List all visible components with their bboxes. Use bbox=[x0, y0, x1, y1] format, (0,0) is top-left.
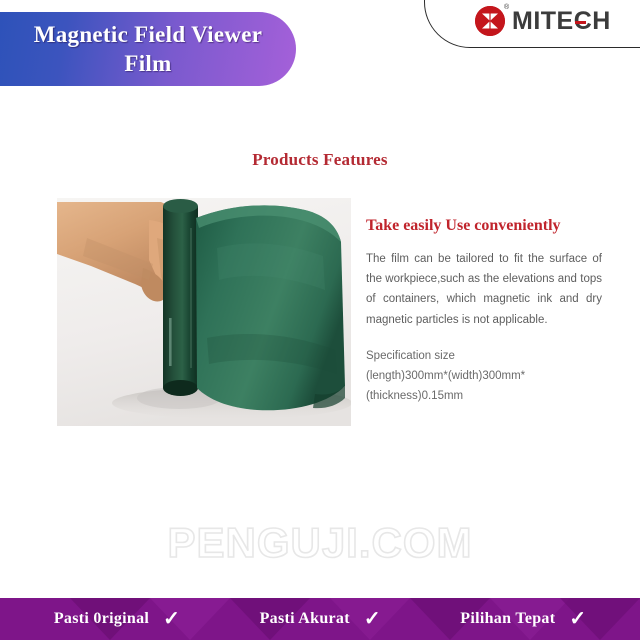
section-heading-products-features: Products Features bbox=[0, 150, 640, 170]
check-icon: ✓ bbox=[569, 609, 586, 629]
specification-dimensions: (length)300mm*(width)300mm* bbox=[366, 366, 602, 386]
mitech-hourglass-icon: ® bbox=[475, 6, 505, 36]
product-description-block: Take easily Use conveniently The film ca… bbox=[366, 216, 602, 406]
product-title-banner: Magnetic Field Viewer Film bbox=[0, 12, 296, 86]
footer-badge-right-choice: Pilihan Tepat ✓ bbox=[460, 609, 586, 629]
mitech-wordmark: MITECH bbox=[512, 9, 611, 34]
footer-badge-right-choice-label: Pilihan Tepat bbox=[460, 610, 555, 628]
footer-badge-accurate: Pasti Akurat ✓ bbox=[260, 609, 381, 629]
product-info-banner: ® MITECH Magnetic Field Viewer Film Prod… bbox=[0, 0, 640, 640]
specification-label: Specification size bbox=[366, 346, 602, 366]
product-title-line1: Magnetic Field Viewer bbox=[34, 20, 263, 49]
product-photo bbox=[57, 198, 351, 426]
product-title-line2: Film bbox=[124, 49, 171, 78]
footer-bar: Pasti 0riginal ✓ Pasti Akurat ✓ Pilihan … bbox=[0, 598, 640, 640]
feature-paragraph: The film can be tailored to fit the surf… bbox=[366, 249, 602, 330]
feature-headline: Take easily Use conveniently bbox=[366, 216, 602, 235]
check-icon: ✓ bbox=[163, 609, 180, 629]
specification-thickness: (thickness)0.15mm bbox=[366, 386, 602, 406]
registered-trademark-mark: ® bbox=[504, 4, 509, 11]
footer-badge-original: Pasti 0riginal ✓ bbox=[54, 609, 180, 629]
mitech-wordmark-text: MITECH bbox=[512, 7, 611, 35]
footer-badge-accurate-label: Pasti Akurat bbox=[260, 610, 350, 628]
check-icon: ✓ bbox=[364, 609, 381, 629]
mitech-e-accent-bar bbox=[575, 21, 586, 25]
footer-badge-original-label: Pasti 0riginal bbox=[54, 610, 149, 628]
footer-trust-badges: Pasti 0riginal ✓ Pasti Akurat ✓ Pilihan … bbox=[0, 598, 640, 640]
mitech-logo: ® MITECH bbox=[475, 4, 611, 38]
site-watermark: PENGUJI.COM bbox=[0, 519, 640, 567]
